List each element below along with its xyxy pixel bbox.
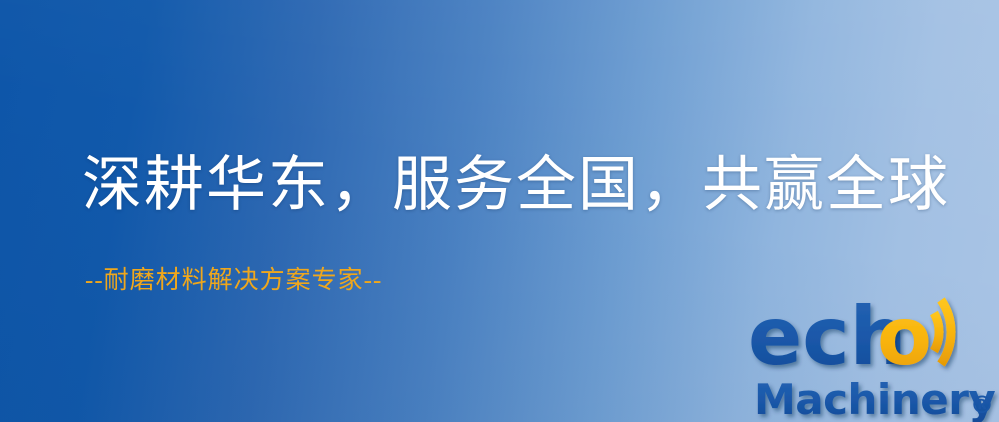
hero-banner: 深耕华东，服务全国，共赢全球 --耐磨材料解决方案专家-- bbox=[0, 0, 999, 422]
logo-wordmark-o: o bbox=[877, 296, 932, 383]
echo-machinery-logo: ech o Machinery ® bbox=[748, 296, 999, 422]
signal-wave-icon bbox=[934, 300, 951, 364]
registered-trademark-icon: ® bbox=[970, 391, 994, 419]
logo-o-shape: o bbox=[877, 296, 932, 383]
banner-headline: 深耕华东，服务全国，共赢全球 bbox=[82, 152, 950, 219]
banner-subtitle: --耐磨材料解决方案专家-- bbox=[85, 266, 382, 296]
logo-subword-machinery: Machinery bbox=[754, 375, 995, 422]
logo-subword-shape: Machinery bbox=[754, 375, 995, 422]
